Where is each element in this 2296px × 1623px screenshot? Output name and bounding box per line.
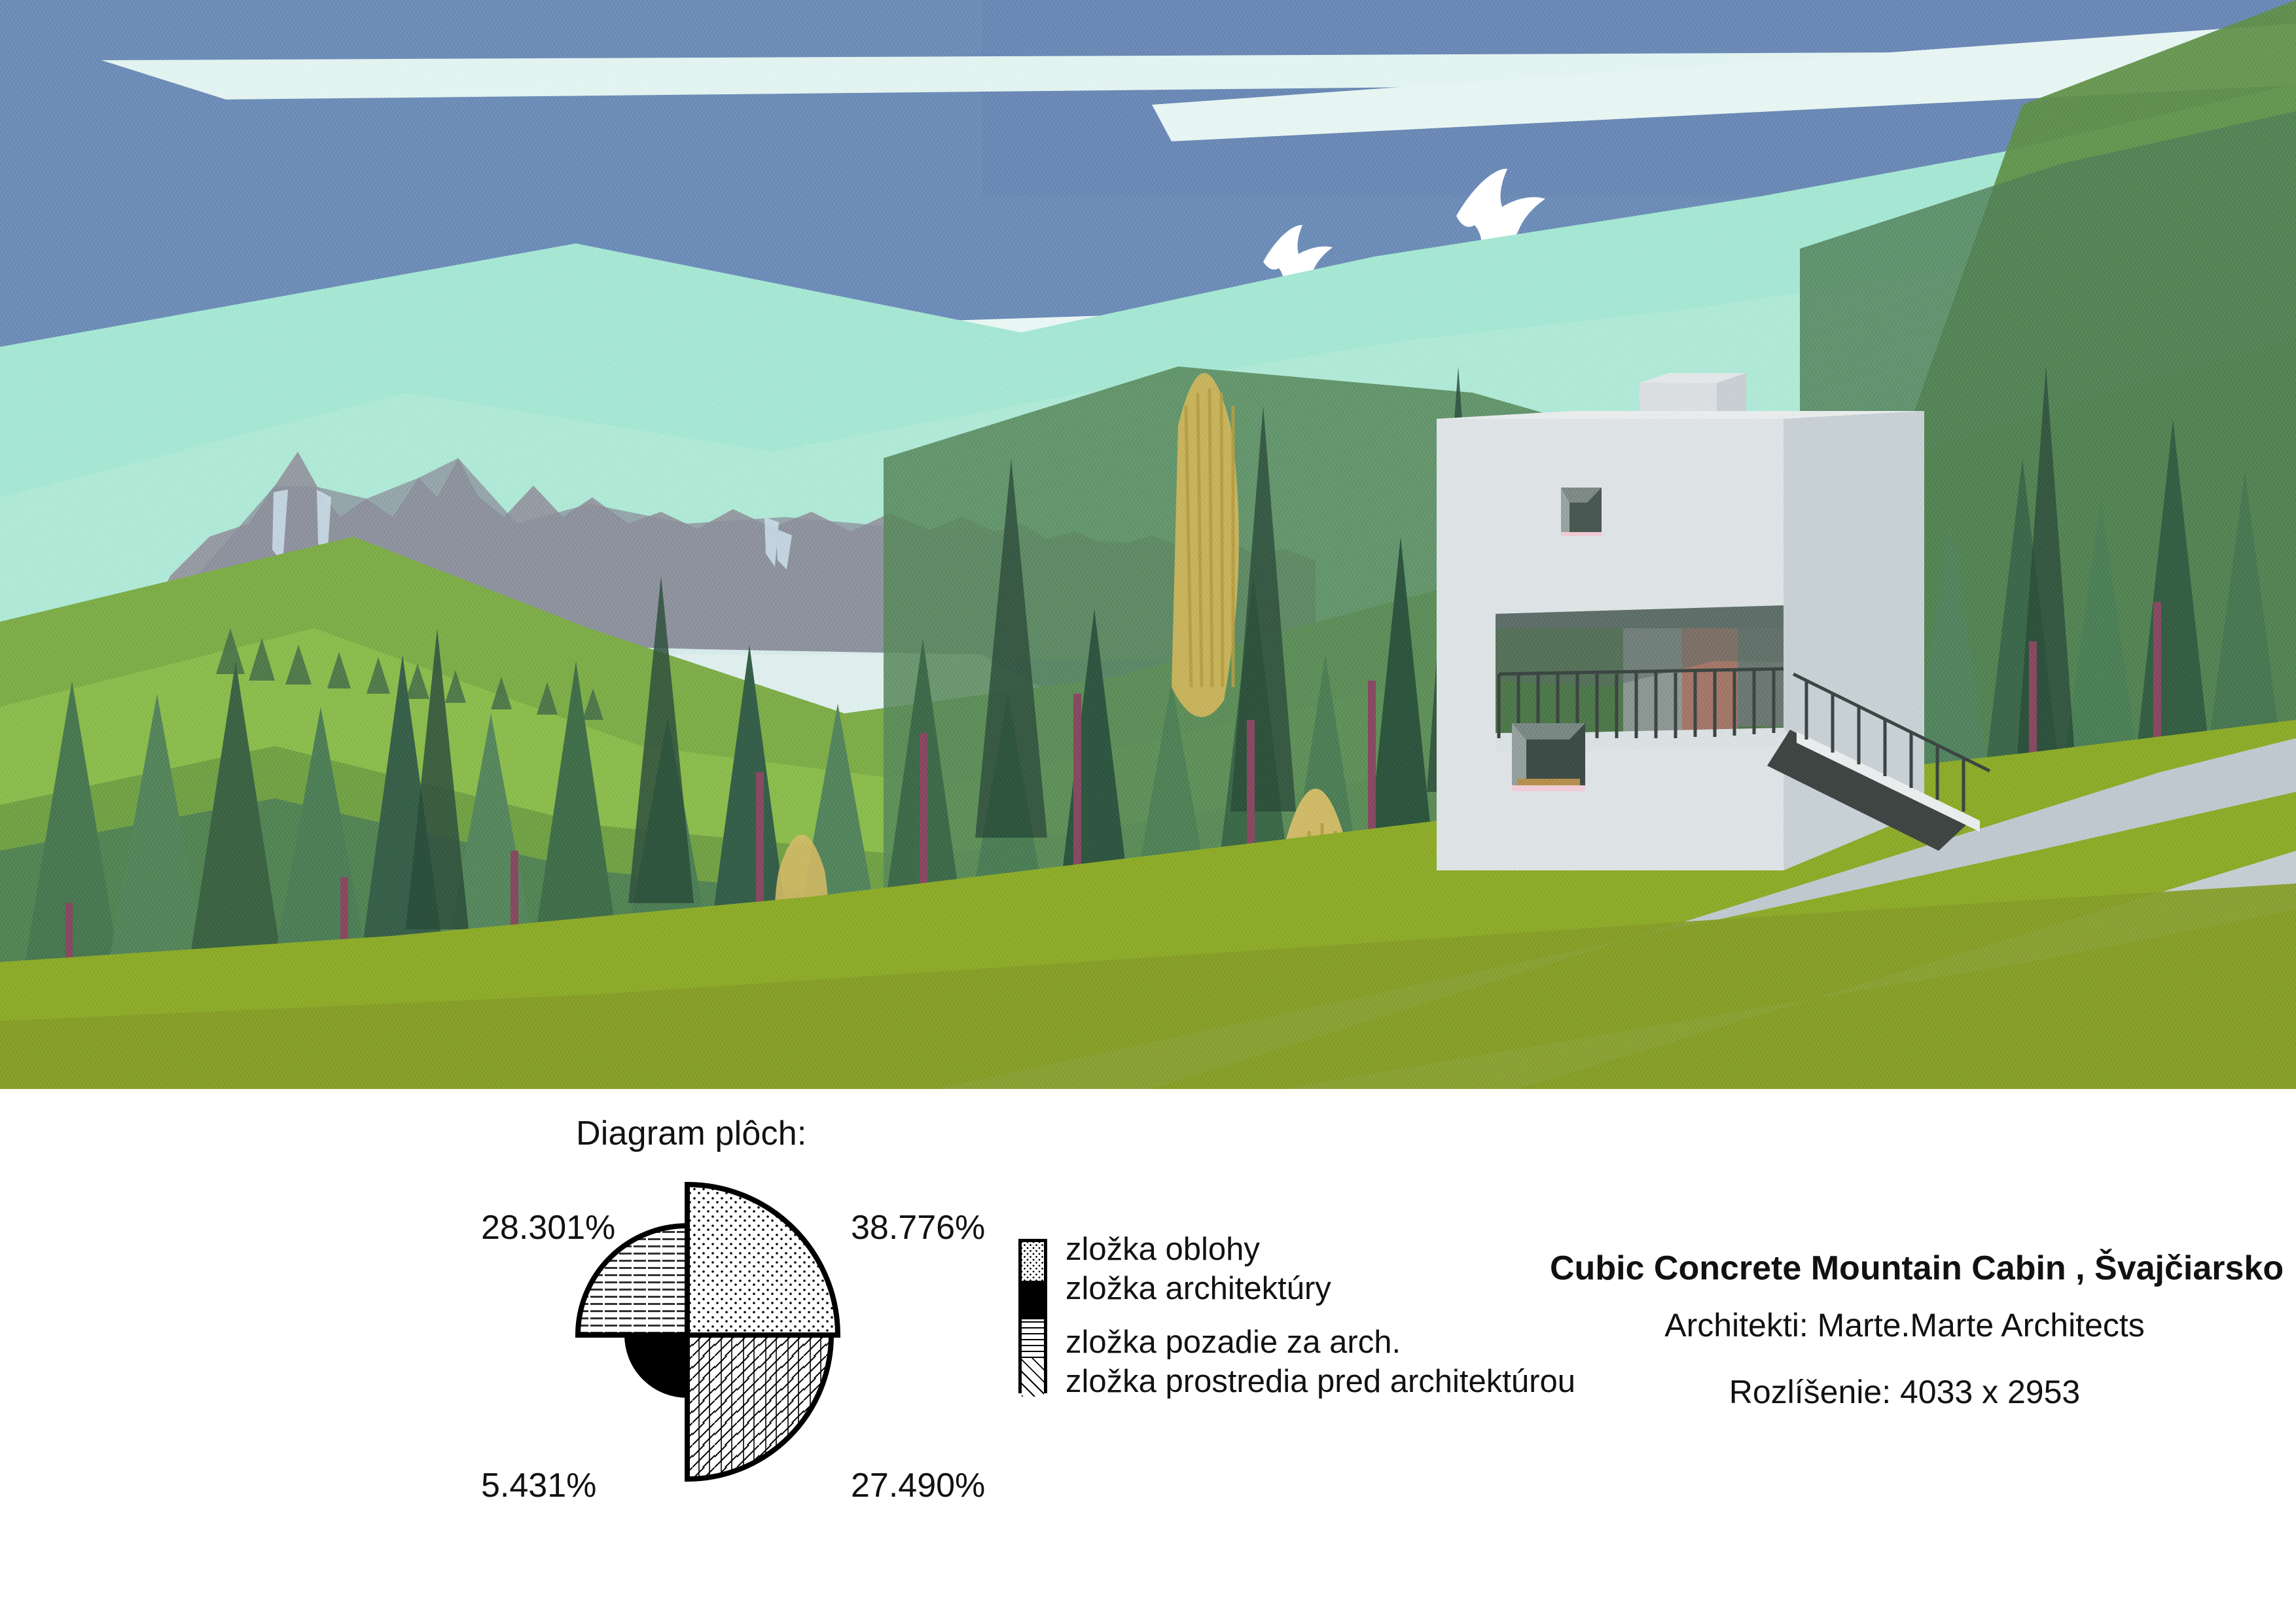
diagram-title: Diagram plôch:: [576, 1114, 807, 1153]
project-title: Cubic Concrete Mountain Cabin , Švajčiar…: [1550, 1249, 2251, 1288]
project-architects: Architekti: Marte.Marte Architects: [1558, 1306, 2251, 1344]
legend-item-sky: zložka oblohy: [1066, 1231, 1260, 1268]
swatch-solid-black-icon: [1022, 1281, 1044, 1319]
page-root: Diagram plôch:: [0, 0, 2296, 1623]
swatch-hatch-icon: [1022, 1358, 1044, 1397]
swatch-dashed-icon: [1022, 1319, 1044, 1358]
legend-item-architecture: zložka architektúry: [1066, 1270, 1331, 1307]
pct-bottom-left: 5.431%: [481, 1466, 596, 1505]
pct-top-left: 28.301%: [481, 1208, 615, 1247]
legend-item-foreground: zložka prostredia pred architektúrou: [1066, 1363, 1575, 1400]
pct-bottom-right: 27.490%: [851, 1466, 985, 1505]
project-info-block: Cubic Concrete Mountain Cabin , Švajčiar…: [1558, 1249, 2251, 1411]
illustration-image: [0, 0, 2296, 1089]
legend-swatch-column: [1018, 1239, 1047, 1393]
cubic-cabin-building: [1437, 373, 1990, 870]
pie-slice-foreground: [687, 1335, 831, 1479]
pie-slice-architecture: [625, 1335, 687, 1397]
swatch-dotted-icon: [1022, 1242, 1044, 1281]
landscape-illustration: [0, 0, 2296, 1089]
project-resolution: Rozlíšenie: 4033 x 2953: [1558, 1373, 2251, 1411]
pct-top-right: 38.776%: [851, 1208, 985, 1247]
pie-slice-sky: [687, 1185, 838, 1335]
legend-item-background: zložka pozadie za arch.: [1066, 1324, 1401, 1361]
